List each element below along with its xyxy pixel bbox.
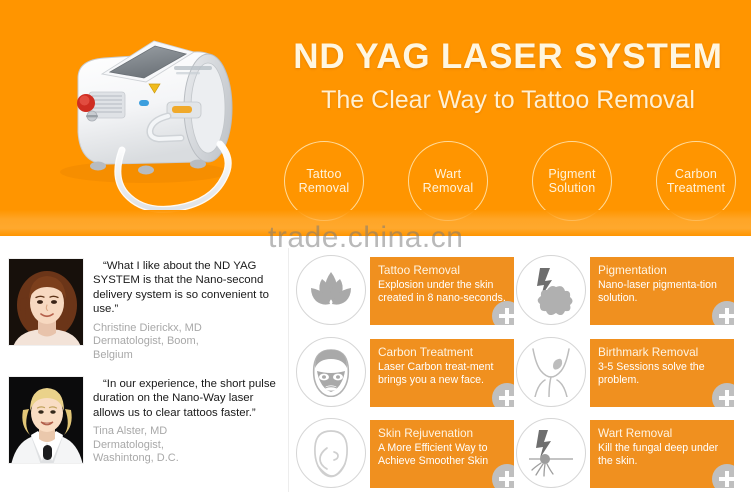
feature-card-wart-removal[interactable]: Wart Removal Kill the fungal deep under … [516, 418, 734, 490]
feature-text-box: Tattoo Removal Explosion under the skin … [370, 257, 514, 325]
testimonial-quote: “In our experience, the short pulse dura… [93, 377, 286, 420]
feature-card-pigmentation[interactable]: Pigmentation Nano-laser pigmenta-tion so… [516, 255, 734, 327]
badge-tattoo-removal[interactable]: Tattoo Removal [284, 141, 364, 221]
badge-line-1: Tattoo [306, 167, 341, 182]
feature-card-carbon-treatment[interactable]: Carbon Treatment Laser Carbon treat-ment… [296, 337, 514, 409]
testimonial-quote: “What I like about the ND YAG SYSTEM is … [93, 259, 286, 317]
feature-description: 3-5 Sessions solve the problem. [598, 361, 726, 386]
expand-plus-button[interactable] [492, 464, 514, 488]
expand-plus-button[interactable] [492, 383, 514, 407]
lotus-flower-icon [296, 255, 366, 325]
testimonial-location: Belgium [93, 349, 286, 363]
feature-description: Kill the fungal deep under the skin. [598, 442, 726, 467]
feature-card-skin-rejuvenation[interactable]: Skin Rejuvenation A More Efficient Way t… [296, 418, 514, 490]
feature-description: A More Efficient Way to Achieve Smoother… [378, 442, 506, 467]
testimonial-item: “In our experience, the short pulse dura… [8, 376, 286, 466]
feature-text-box: Wart Removal Kill the fungal deep under … [590, 420, 734, 488]
badge-line-1: Carbon [675, 167, 717, 182]
feature-title: Pigmentation [598, 263, 726, 277]
feature-description: Laser Carbon treat-ment brings you a new… [378, 361, 506, 386]
carbon-face-mask-icon [296, 337, 366, 407]
testimonial-attribution: Tina Alster, MD Dermatologist, Washinton… [93, 425, 286, 466]
testimonials-panel: “What I like about the ND YAG SYSTEM is … [0, 252, 288, 496]
badge-line-2: Removal [299, 181, 350, 196]
features-grid: Tattoo Removal Explosion under the skin … [296, 252, 748, 496]
promo-page: ND YAG LASER SYSTEM The Clear Way to Tat… [0, 0, 751, 498]
column-divider [288, 248, 289, 492]
feature-title: Skin Rejuvenation [378, 426, 506, 440]
expand-plus-button[interactable] [712, 301, 734, 325]
feature-text-box: Skin Rejuvenation A More Efficient Way t… [370, 420, 514, 488]
feature-card-tattoo-removal[interactable]: Tattoo Removal Explosion under the skin … [296, 255, 514, 327]
feature-title: Tattoo Removal [378, 263, 506, 277]
expand-plus-button[interactable] [492, 301, 514, 325]
feature-title: Carbon Treatment [378, 345, 506, 359]
page-title: ND YAG LASER SYSTEM [282, 36, 734, 78]
badge-line-2: Solution [549, 181, 596, 196]
badge-line-2: Treatment [667, 181, 725, 196]
testimonial-name: Tina Alster, MD [93, 425, 286, 439]
lightning-wart-root-icon [516, 418, 586, 488]
page-subtitle: The Clear Way to Tattoo Removal [282, 84, 734, 116]
treatment-badges: Tattoo Removal Wart Removal Pigment Solu… [284, 141, 736, 221]
hero-banner: ND YAG LASER SYSTEM The Clear Way to Tat… [0, 0, 751, 236]
badge-wart-removal[interactable]: Wart Removal [408, 141, 488, 221]
testimonial-name: Christine Dierickx, MD [93, 322, 286, 336]
feature-text-box: Birthmark Removal 3-5 Sessions solve the… [590, 339, 734, 407]
testimonial-attribution: Christine Dierickx, MD Dermatologist, Bo… [93, 322, 286, 363]
expand-plus-button[interactable] [712, 383, 734, 407]
feature-title: Birthmark Removal [598, 345, 726, 359]
badge-pigment-solution[interactable]: Pigment Solution [532, 141, 612, 221]
smooth-face-icon [296, 418, 366, 488]
testimonial-body: “What I like about the ND YAG SYSTEM is … [93, 258, 286, 362]
feature-title: Wart Removal [598, 426, 726, 440]
badge-line-1: Pigment [548, 167, 595, 182]
testimonial-role: Dermatologist, [93, 439, 286, 453]
testimonial-item: “What I like about the ND YAG SYSTEM is … [8, 258, 286, 362]
testimonial-location: Washintong, D.C. [93, 452, 286, 466]
feature-description: Explosion under the skin created in 8 na… [378, 279, 506, 304]
neck-birthmark-icon [516, 337, 586, 407]
feature-description: Nano-laser pigmenta-tion solution. [598, 279, 726, 304]
avatar [8, 376, 84, 464]
expand-plus-button[interactable] [712, 464, 734, 488]
features-column-left: Tattoo Removal Explosion under the skin … [296, 252, 514, 496]
features-column-right: Pigmentation Nano-laser pigmenta-tion so… [516, 252, 734, 496]
badge-line-2: Removal [423, 181, 474, 196]
badge-line-1: Wart [435, 167, 462, 182]
avatar [8, 258, 84, 346]
feature-text-box: Pigmentation Nano-laser pigmenta-tion so… [590, 257, 734, 325]
lightning-pigment-spot-icon [516, 255, 586, 325]
testimonial-body: “In our experience, the short pulse dura… [93, 376, 286, 466]
feature-text-box: Carbon Treatment Laser Carbon treat-ment… [370, 339, 514, 407]
testimonial-role: Dermatologist, Boom, [93, 335, 286, 349]
feature-card-birthmark-removal[interactable]: Birthmark Removal 3-5 Sessions solve the… [516, 337, 734, 409]
badge-carbon-treatment[interactable]: Carbon Treatment [656, 141, 736, 221]
laser-machine-image [26, 14, 266, 222]
